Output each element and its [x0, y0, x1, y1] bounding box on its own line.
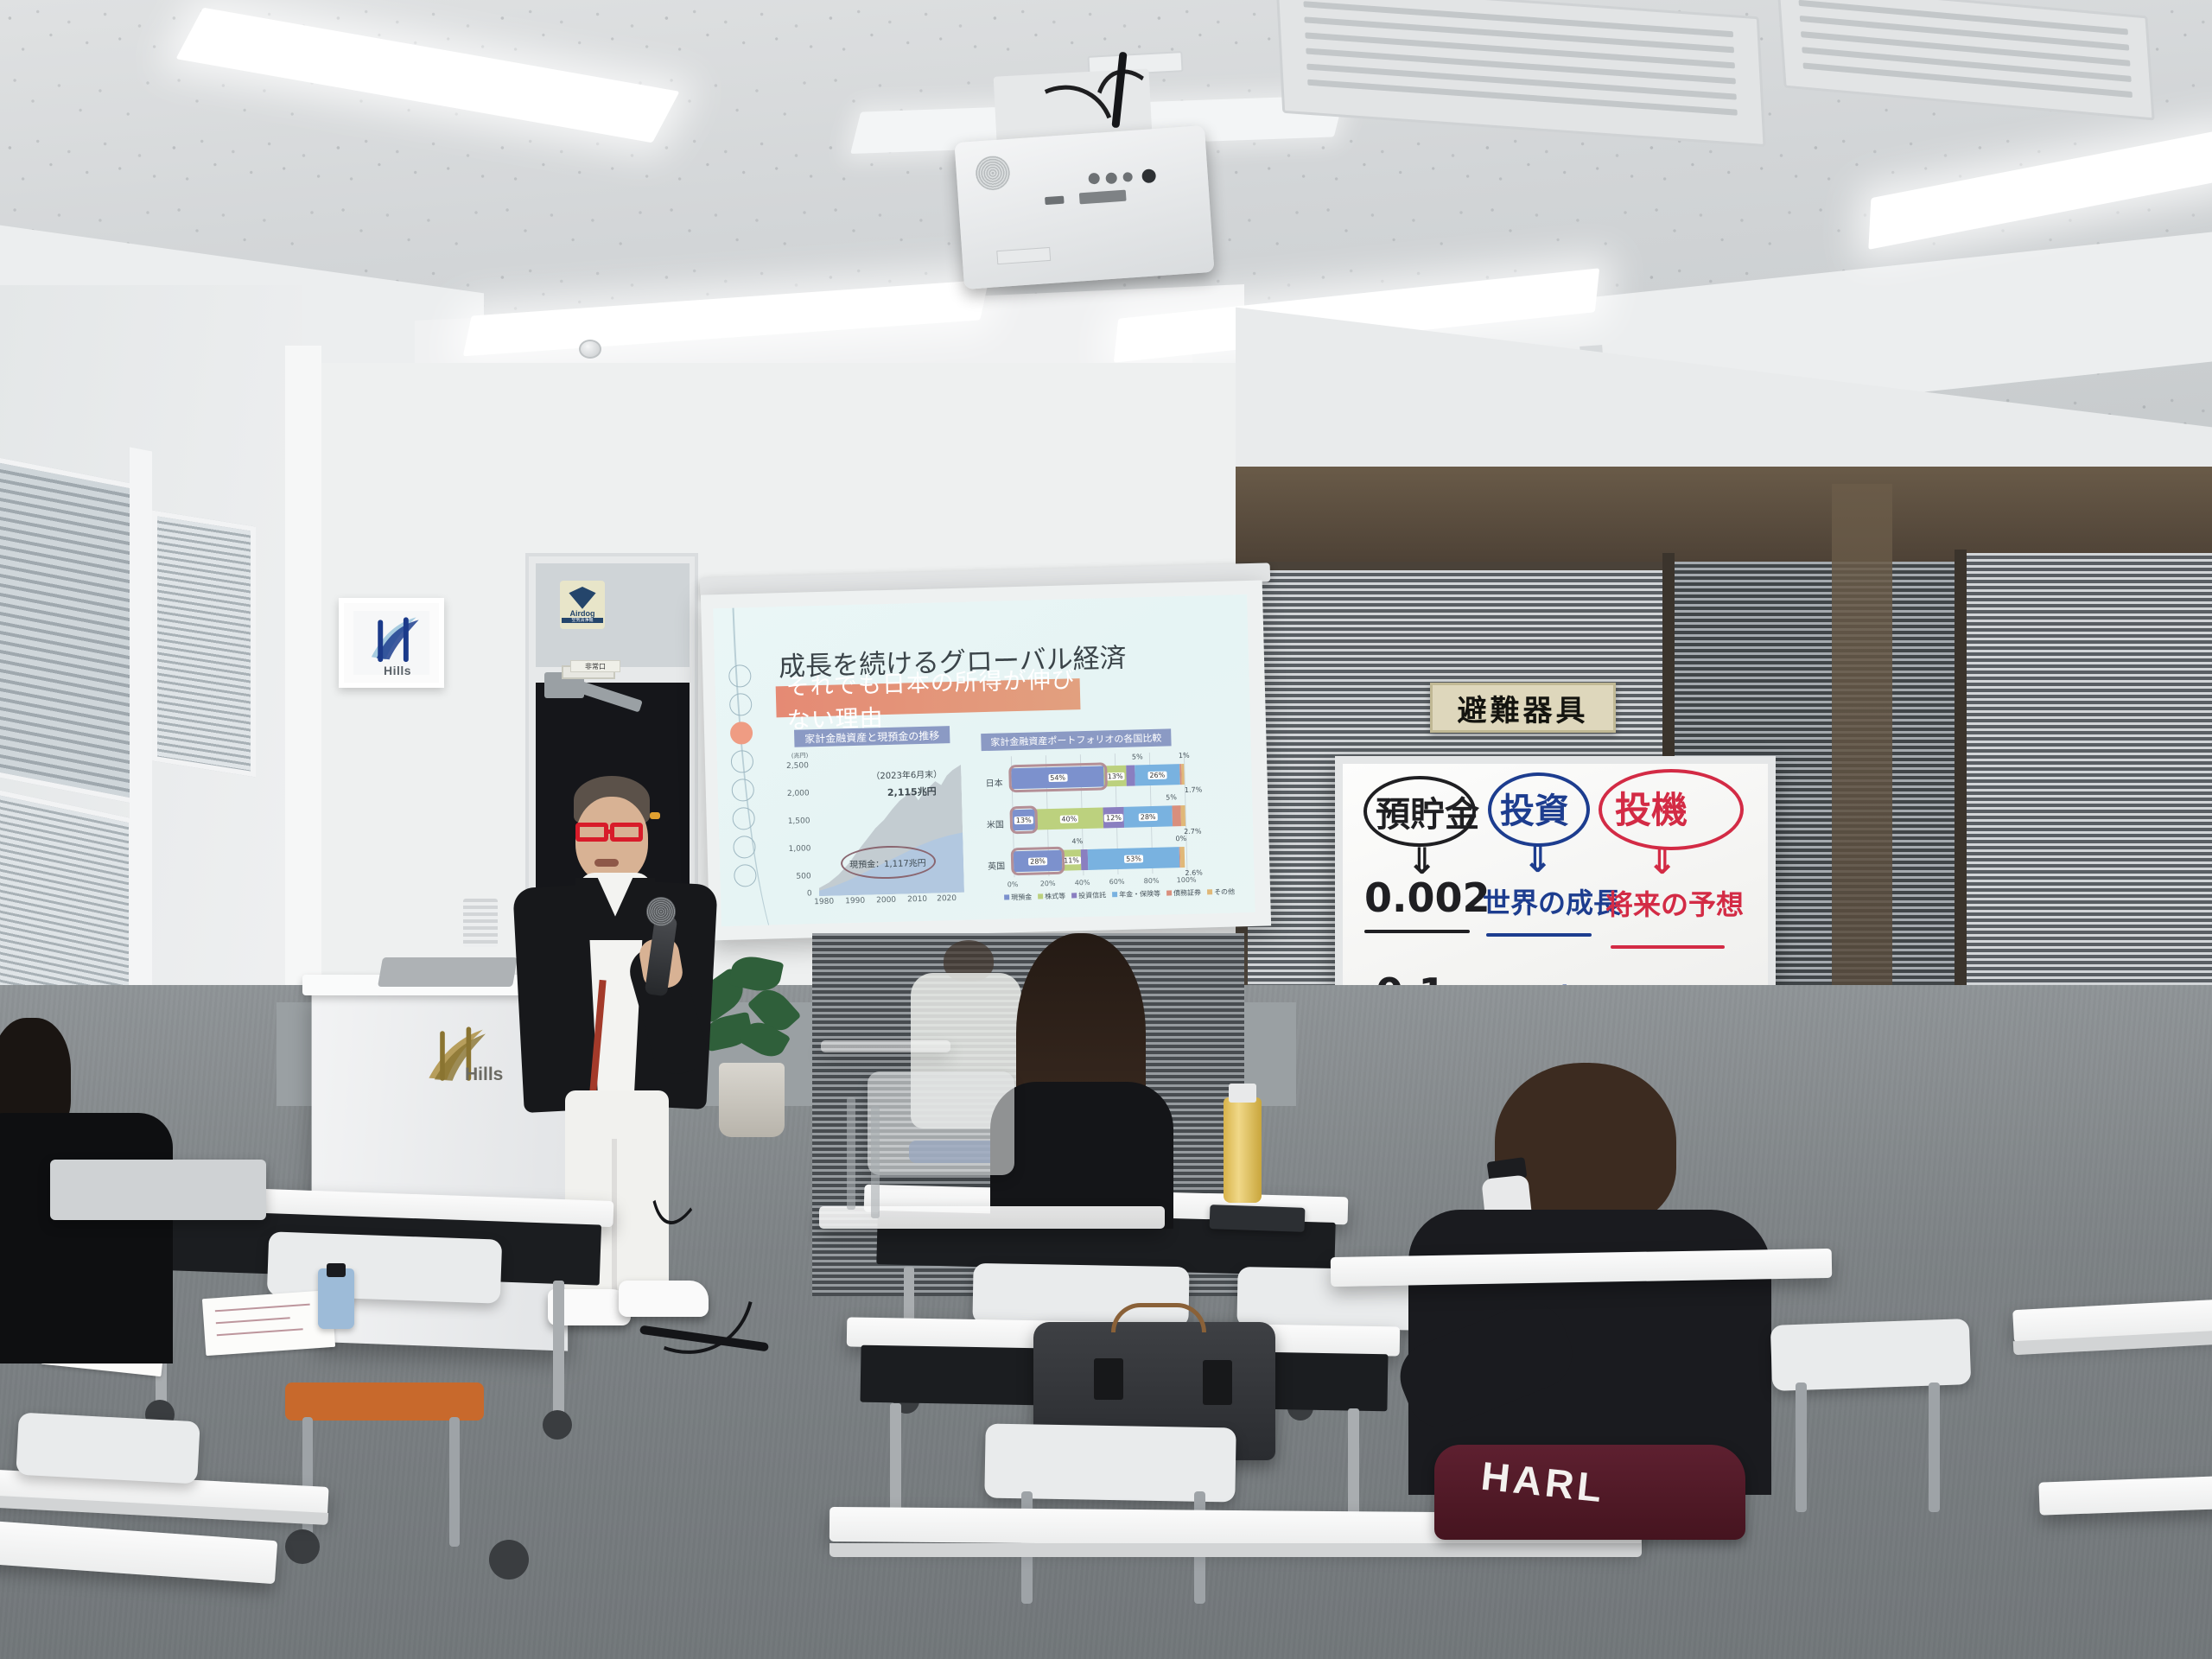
ceiling-speaker-icon [579, 340, 601, 359]
wb-arrow-col3: ⇓ [1647, 840, 1677, 882]
projector-vga-port [1079, 190, 1127, 205]
laptop-on-podium [378, 957, 518, 987]
left-chart-xtick-2000: 2000 [876, 896, 896, 906]
paper-line-3 [217, 1328, 303, 1336]
right-chart-xtick-20: 20% [1040, 880, 1056, 887]
projection-screen: 成長を続けるグローバル経済 それでも日本の所得が伸びない理由 家計金融資産と現預… [701, 581, 1271, 941]
wb-underline1-col2 [1486, 933, 1592, 937]
right-chart-highlight-japan [1008, 762, 1108, 792]
evacuation-equipment-sign: 避難器具 [1430, 683, 1616, 733]
chair-right-back[interactable] [1770, 1319, 1972, 1391]
right-chart-highlight-uk [1011, 847, 1065, 876]
right-chart-xtick-60: 60% [1109, 878, 1125, 886]
legend-item-cash: 現預金 [1004, 893, 1032, 903]
wall-vent-grill [463, 899, 498, 947]
wb-underline1-col3 [1611, 945, 1725, 949]
backpack-strap-left [1094, 1358, 1123, 1400]
chair-right-frame [1796, 1382, 1807, 1512]
label-uk-bond: 0% [1175, 835, 1186, 842]
presenter-glasses-left-lens [575, 823, 608, 842]
desk-back-room-leg-2 [871, 1106, 880, 1218]
wb-arrow-col2: ⇓ [1522, 838, 1553, 880]
presenter-glasses-bridge [607, 829, 613, 834]
left-chart-ytick-0: 0 [807, 889, 812, 898]
left-chart-cash-annotation: 現預金：1,117兆円 [849, 855, 926, 870]
left-chart-heading: 家計金融資産と現預金の推移 [794, 726, 950, 747]
hills-logo-icon [353, 608, 439, 672]
left-chart-ytick-1500: 1,500 [788, 817, 810, 826]
attendee-front-left-body [0, 1113, 173, 1363]
projector-speaker-grill [975, 155, 1012, 192]
chair-front-left-seat[interactable] [285, 1382, 484, 1421]
label-jp-other: 1.7% [1185, 785, 1203, 794]
legend-item-bond: 債務証券 [1166, 888, 1201, 899]
airdog-sublabel: 空気清浄機 [562, 618, 603, 623]
left-chart-date-annotation: （2023年6月末） [871, 766, 942, 781]
wb-heading-col2: 投資 [1500, 783, 1569, 833]
chair-front-left-caster [489, 1540, 529, 1580]
wb-value1-col2: 世界の成長 [1483, 881, 1621, 921]
chair-front-left-frame-2 [449, 1417, 460, 1547]
right-chart-bar-usa: 13% 40% 12% 28% [1013, 805, 1186, 830]
slide-banner: それでも日本の所得が伸びない理由 [776, 678, 1081, 717]
paper-line-2 [216, 1317, 290, 1324]
slide-dot-2 [729, 693, 753, 716]
presenter-watch [650, 812, 660, 819]
desk-front-left-1-caster-b [543, 1410, 572, 1440]
right-chart-cat-uk: 英国 [988, 858, 1005, 872]
left-chart-xtick-2010: 2010 [907, 895, 927, 905]
left-chart-total-annotation: 2,115兆円 [887, 785, 937, 799]
label-jp-fund: 5% [1132, 753, 1143, 760]
wb-underline1-col1 [1364, 930, 1470, 933]
office-printer [50, 1160, 266, 1220]
backpack-strap-right [1203, 1360, 1232, 1405]
projector-label [996, 247, 1051, 264]
wall-plaque: Hills [339, 598, 444, 688]
right-chart-legend: 現預金 株式等 投資信託 年金・保険等 債務証券 その他 [1004, 887, 1235, 903]
seg-us-equity: 40% [1034, 807, 1103, 829]
door-notice-sign: 非常口 [570, 660, 620, 672]
legend-item-other: その他 [1207, 887, 1235, 898]
slide-dot-3-active [730, 721, 753, 745]
tablet-device[interactable] [1210, 1205, 1306, 1232]
right-chart-cat-japan: 日本 [985, 775, 1002, 789]
back-door-transom-glass [536, 563, 690, 667]
left-chart-yunit: (兆円) [791, 751, 809, 760]
label-us-bond: 5% [1166, 793, 1177, 801]
backpack-handle [1111, 1303, 1206, 1332]
presentation-slide: 成長を続けるグローバル経済 それでも日本の所得が伸びない理由 家計金融資産と現預… [713, 594, 1255, 926]
partition-wood-panel-top [1236, 467, 2212, 562]
podium-brand-text: Hills [465, 1065, 503, 1085]
right-chart-highlight-usa [1009, 805, 1038, 834]
seg-jp-fund [1126, 765, 1135, 785]
left-chart-xtick-1990: 1990 [845, 897, 865, 906]
left-chart-ytick-500: 500 [796, 872, 810, 880]
slide-dot-4 [731, 750, 754, 773]
paper-line-1 [215, 1304, 310, 1313]
left-chart-ytick-2000: 2,000 [787, 789, 810, 798]
right-chart: 日本 54% 13% 26% 5% 1% 1.7% 米国 13% 40% [976, 750, 1239, 904]
wb-value1-col1: 0.002 [1364, 874, 1491, 921]
water-bottle[interactable] [1224, 1097, 1262, 1203]
right-chart-xtick-0: 0% [1007, 880, 1019, 888]
attendee-center [985, 933, 1184, 1218]
seg-us-fund: 12% [1103, 807, 1124, 829]
wb-value1-col3: 将来の予想 [1605, 883, 1744, 923]
left-chart-xtick-2020: 2020 [937, 894, 957, 904]
window-left-far [152, 510, 256, 777]
slide-dot-1 [728, 664, 752, 688]
seg-uk-other [1179, 847, 1185, 868]
right-chart-xtick-40: 40% [1075, 879, 1090, 887]
left-chart: (兆円) 2,500 2,000 1,500 1,000 500 0 （2023… [785, 747, 970, 906]
seg-us-bond [1172, 805, 1181, 826]
wb-heading-col3: 投機 [1615, 781, 1688, 834]
left-chart-ytick-1000: 1,000 [788, 844, 810, 854]
handout-paper-1[interactable] [202, 1290, 335, 1356]
airdog-sticker: Airdog 空気清浄機 [560, 581, 605, 629]
seg-us-pension: 28% [1124, 805, 1173, 827]
desk-far-right [2038, 1476, 2212, 1515]
left-chart-ytick-2500: 2,500 [786, 761, 809, 771]
seg-jp-other [1181, 764, 1185, 785]
legend-item-pension: 年金・保険等 [1112, 889, 1160, 899]
seg-uk-pension: 53% [1088, 847, 1180, 870]
label-jp-bond: 1% [1179, 752, 1190, 760]
legend-item-fund: 投資信託 [1071, 890, 1106, 900]
right-chart-xtick-100: 100% [1177, 876, 1197, 885]
right-chart-heading: 家計金融資産ポートフォリオの各国比較 [981, 728, 1171, 751]
right-chart-cat-usa: 米国 [987, 817, 1004, 830]
airdog-diamond-icon [569, 587, 595, 609]
desk-behind-glass [821, 1040, 950, 1052]
seg-us-other [1180, 805, 1185, 826]
left-chart-xtick-1980: 1980 [814, 898, 834, 907]
desk-front-center-edge [829, 1543, 1642, 1557]
pencil-case-zipper [327, 1263, 346, 1277]
window-blinds-1 [0, 462, 137, 799]
pencil-case[interactable] [318, 1268, 354, 1329]
right-chart-xtick-80: 80% [1144, 877, 1160, 885]
projector-hdmi-port [1045, 196, 1065, 206]
microphone-head [646, 897, 676, 926]
chair-front-left-2-back[interactable] [16, 1413, 200, 1484]
chair-front-left-caster-2 [285, 1529, 320, 1564]
chair-right-frame-2 [1929, 1382, 1940, 1512]
seg-jp-pension: 26% [1135, 764, 1179, 785]
wb-heading-col1: 預貯金 [1376, 786, 1479, 836]
chair-back-room[interactable] [868, 1071, 1014, 1175]
window-blinds-3 [157, 516, 251, 771]
chair-center-3-back[interactable] [984, 1423, 1236, 1502]
airdog-label: Airdog [570, 609, 595, 618]
seminar-room-photo: Hills Airdog 空気清浄機 非常口 避難器具 預貯金 ⇓ 0.002 … [0, 0, 2212, 1659]
legend-item-equity: 株式等 [1038, 892, 1065, 902]
desk-front-left-1-leg-b [553, 1281, 564, 1419]
presenter-glasses-right-lens [610, 823, 643, 842]
label-uk-fund: 4% [1071, 837, 1083, 845]
window-left-upper [0, 456, 143, 805]
presenter-mouth [594, 859, 619, 867]
wall-plaque-brand-text: Hills [384, 664, 411, 677]
desk-back-room-leg [847, 1097, 855, 1210]
water-bottle-cap [1229, 1084, 1256, 1103]
